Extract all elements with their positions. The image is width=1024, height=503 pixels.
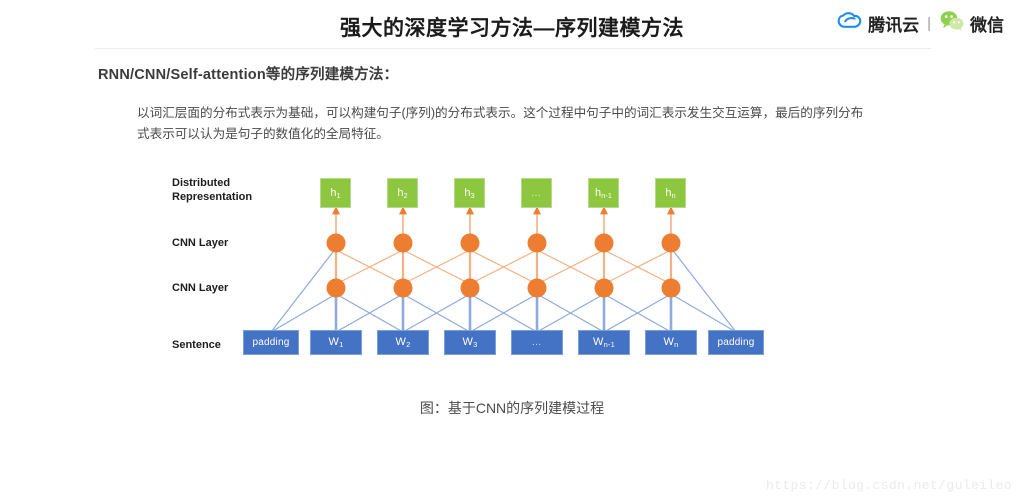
output-node-hn-1: hn-1	[588, 178, 619, 208]
output-node-sub: 3	[470, 191, 474, 200]
sentence-token-w2: W2	[377, 330, 429, 355]
section-heading: RNN/CNN/Self-attention等的序列建模方法：	[98, 63, 398, 84]
row-label-sentence: Sentence	[172, 338, 221, 352]
brand-separator: |	[927, 15, 931, 32]
sentence-token-w3: W3	[444, 330, 496, 355]
row-label-cnn-layer-bottom: CNN Layer	[172, 281, 228, 295]
output-node-sub: 2	[403, 191, 407, 200]
wechat-brand: 微信	[939, 10, 1004, 37]
output-node-h3: h3	[454, 178, 485, 208]
row-label-line-1: Distributed	[172, 176, 252, 190]
slide-page: 强大的深度学习方法—序列建模方法 腾讯云 |	[0, 0, 1024, 503]
sentence-token-sub: 3	[473, 340, 477, 349]
output-node-base: …	[531, 188, 542, 199]
header-divider	[95, 48, 931, 49]
output-node-h2: h2	[387, 178, 418, 208]
brand-logo-group: 腾讯云 | 微信	[837, 9, 1004, 37]
cnn-top-nodes	[327, 234, 681, 253]
sentence-token-base: W	[593, 336, 604, 348]
sentence-token-base: padding	[718, 337, 755, 348]
tencent-cloud-icon	[837, 11, 863, 36]
sentence-token-padding-left: padding	[243, 330, 299, 355]
sentence-token-padding-right: padding	[708, 330, 764, 355]
sentence-token-sub: n-1	[604, 340, 615, 349]
output-node-ellipsis: …	[521, 178, 552, 208]
sentence-token-base: W	[396, 336, 407, 348]
row-label-cnn-layer-top: CNN Layer	[172, 236, 228, 250]
sentence-token-sub: n	[674, 340, 678, 349]
output-node-sub: 1	[336, 191, 340, 200]
sentence-token-base: W	[664, 336, 675, 348]
output-node-h1: h1	[320, 178, 351, 208]
sentence-token-ellipsis: …	[511, 330, 563, 355]
cnn-sequence-diagram: Distributed Representation CNN Layer CNN…	[0, 160, 1024, 380]
sentence-token-wn-1: Wn-1	[578, 330, 630, 355]
output-node-hn: hn	[655, 178, 686, 208]
figure-caption: 图：基于CNN的序列建模过程	[0, 398, 1024, 418]
body-paragraph: 以词汇层面的分布式表示为基础，可以构建句子(序列)的分布式表示。这个过程中句子中…	[137, 103, 867, 145]
watermark-url: https://blog.csdn.net/guleileo	[766, 478, 1012, 493]
sentence-token-base: padding	[253, 337, 290, 348]
sentence-token-sub: 1	[339, 340, 343, 349]
sentence-token-base: …	[532, 337, 543, 348]
sentence-token-wn: Wn	[645, 330, 697, 355]
row-label-line-2: Representation	[172, 190, 252, 204]
wechat-label: 微信	[970, 11, 1004, 36]
tencent-cloud-brand: 腾讯云	[837, 11, 919, 36]
tencent-cloud-label: 腾讯云	[868, 11, 919, 36]
cnn-bottom-nodes	[327, 279, 681, 298]
sentence-token-base: W	[463, 336, 474, 348]
row-label-distributed-representation: Distributed Representation	[172, 176, 252, 204]
output-node-sub: n-1	[601, 191, 612, 200]
wechat-icon	[939, 10, 965, 37]
sentence-token-base: W	[329, 336, 340, 348]
output-node-sub: n	[671, 191, 675, 200]
sentence-token-w1: W1	[310, 330, 362, 355]
sentence-token-sub: 2	[406, 340, 410, 349]
